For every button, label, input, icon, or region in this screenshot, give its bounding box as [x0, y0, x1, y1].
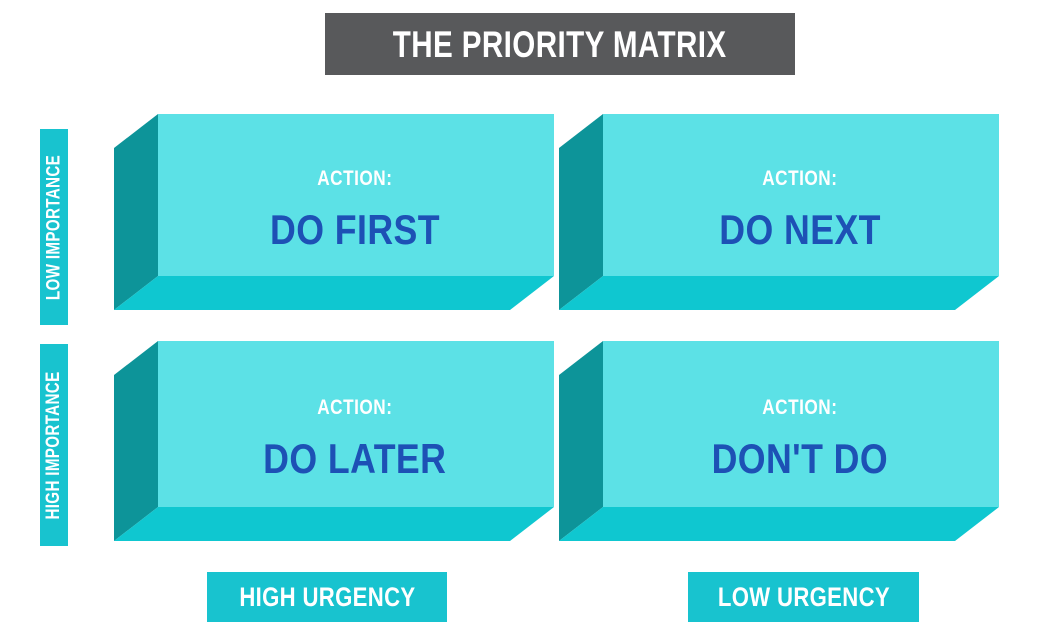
quadrant-do-next-shape — [559, 114, 999, 310]
axis-label-high-urgency-text: HIGH URGENCY — [239, 584, 415, 611]
quadrant-do-first[interactable]: ACTION: DO FIRST — [114, 114, 554, 310]
quadrant-do-later[interactable]: ACTION: DO LATER — [114, 341, 554, 541]
axis-label-low-urgency-text: LOW URGENCY — [717, 584, 889, 611]
box-bottom-face — [559, 507, 999, 541]
priority-matrix-diagram: THE PRIORITY MATRIX LOW IMPORTANCE HIGH … — [0, 0, 1048, 638]
quadrant-dont-do[interactable]: ACTION: DON'T DO — [559, 341, 999, 541]
box-bottom-face — [559, 276, 999, 310]
quadrant-dont-do-shape — [559, 341, 999, 541]
quadrant-do-later-shape — [114, 341, 554, 541]
box-front-face — [158, 341, 554, 507]
box-front-face — [603, 114, 999, 276]
axis-label-low-importance: LOW IMPORTANCE — [40, 129, 68, 325]
axis-label-high-importance: HIGH IMPORTANCE — [40, 344, 68, 546]
page-title: THE PRIORITY MATRIX — [393, 26, 727, 63]
box-left-face — [559, 114, 603, 310]
box-front-face — [603, 341, 999, 507]
box-left-face — [114, 341, 158, 541]
quadrant-do-next[interactable]: ACTION: DO NEXT — [559, 114, 999, 310]
box-left-face — [559, 341, 603, 541]
quadrant-do-first-shape — [114, 114, 554, 310]
axis-label-low-importance-text: LOW IMPORTANCE — [45, 154, 64, 299]
box-left-face — [114, 114, 158, 310]
box-front-face — [158, 114, 554, 276]
box-bottom-face — [114, 507, 554, 541]
axis-label-high-importance-text: HIGH IMPORTANCE — [45, 371, 64, 519]
box-bottom-face — [114, 276, 554, 310]
axis-label-high-urgency: HIGH URGENCY — [207, 572, 447, 622]
title-banner: THE PRIORITY MATRIX — [325, 13, 795, 75]
axis-label-low-urgency: LOW URGENCY — [688, 572, 919, 622]
